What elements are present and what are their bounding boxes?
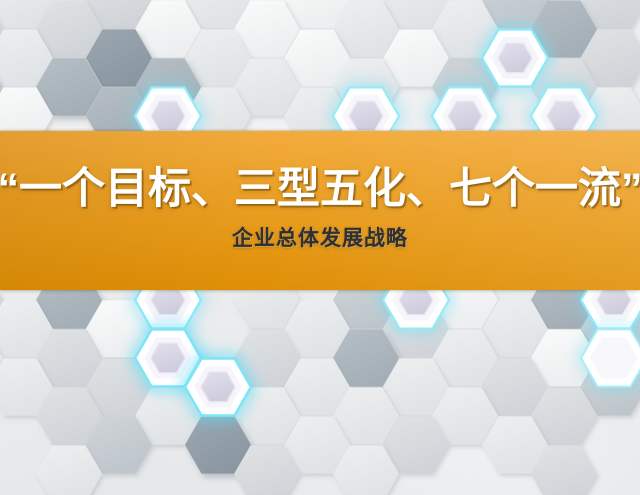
title-banner: “一个目标、三型五化、七个一流” 企业总体发展战略 bbox=[0, 131, 640, 290]
slide-title: “一个目标、三型五化、七个一流” bbox=[0, 167, 640, 213]
slide-canvas: “一个目标、三型五化、七个一流” 企业总体发展战略 bbox=[0, 0, 640, 495]
slide-subtitle: 企业总体发展战略 bbox=[232, 227, 408, 250]
